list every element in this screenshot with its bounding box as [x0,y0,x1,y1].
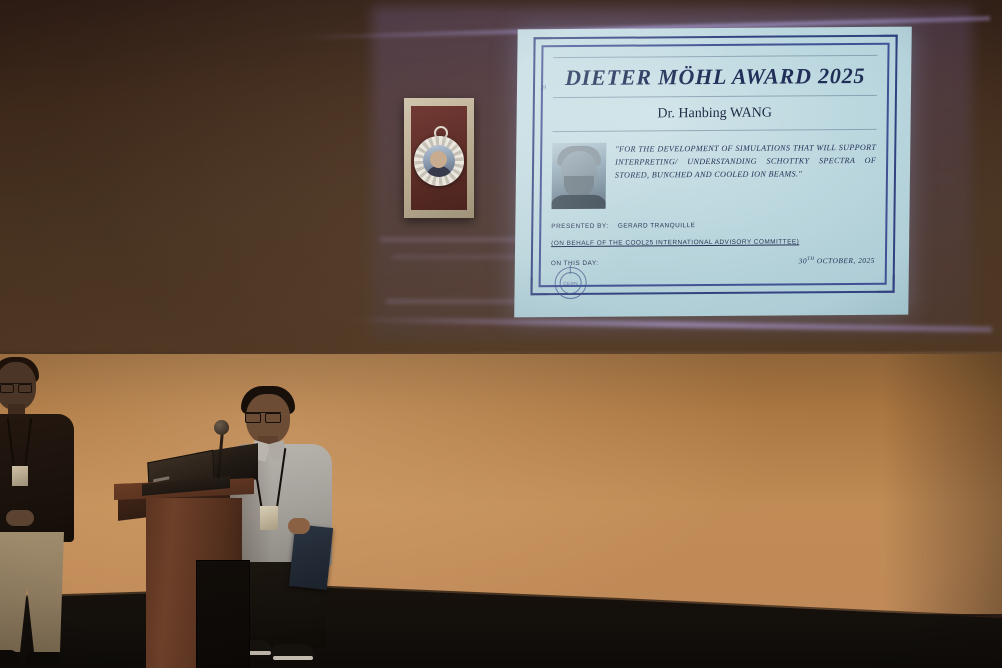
dieter-mohl-portrait [552,143,607,209]
certificate-meta: PRESENTED BY: GERARD TRANQUILLE (ON BEHA… [551,219,876,270]
border-corner-bl [530,277,548,295]
date-day: 30 [799,256,808,265]
attendee-shoe-left [0,650,18,663]
border-corner-tr [879,35,897,53]
ceremony-photo: 39 DIETER MÖHL AWARD 2025 Dr. Hanbing WA… [0,0,1002,668]
cern-seal-icon: CERN [554,267,586,299]
border-corner-br [877,275,895,293]
speaker-shoe-right [272,644,314,660]
projected-certificate-slide: 39 DIETER MÖHL AWARD 2025 Dr. Hanbing WA… [514,27,912,318]
presented-by-name: GERARD TRANQUILLE [618,222,696,230]
person-standing-attendee [0,362,74,668]
rule-below-recipient [552,129,876,132]
certificate-margin-mark: 39 [540,85,546,91]
date-ordinal: TH [807,256,814,261]
lectern-front-panel [196,560,250,668]
certificate-title: DIETER MÖHL AWARD 2025 [553,63,877,91]
attendee-badge [12,466,28,486]
on-behalf-of-text: (ON BEHALF OF THE COOL25 INTERNATIONAL A… [551,238,799,247]
certificate-recipient: Dr. Hanbing WANG [553,105,877,123]
lectern [120,478,248,668]
attendee-shoe-right [26,652,60,665]
speaker-certificate-folder [289,524,333,590]
rule-below-title [553,95,877,98]
medal-portrait [423,145,455,177]
wall-corner-shadow [882,354,1002,614]
certificate-citation: "FOR THE DEVELOPMENT OF SIMULATIONS THAT… [615,141,877,209]
date-rest: OCTOBER, 2025 [814,256,875,265]
date-line: ON THIS DAY: 30TH OCTOBER, 2025 [551,254,875,270]
attendee-trousers [0,532,64,652]
border-corner-tl [533,37,551,55]
award-date: 30TH OCTOBER, 2025 [799,254,875,268]
certificate-content: DIETER MÖHL AWARD 2025 Dr. Hanbing WANG … [551,55,878,277]
portrait-shoulders [552,195,607,209]
on-behalf-of-line: (ON BEHALF OF THE COOL25 INTERNATIONAL A… [551,236,875,250]
framed-medal [404,98,474,218]
seal-label: CERN [555,268,585,298]
medal-disc [414,136,464,186]
presented-by-label: PRESENTED BY: [551,223,608,230]
speaker-hand [288,518,310,534]
presented-by-line: PRESENTED BY: GERARD TRANQUILLE [551,219,875,233]
lectern-body [146,498,242,668]
microphone-head-icon [214,420,229,435]
certificate-body: "FOR THE DEVELOPMENT OF SIMULATIONS THAT… [552,141,877,209]
speaker-badge [260,506,278,530]
medal-mat [411,106,467,210]
attendee-hands [6,510,34,526]
speaker-glasses-icon [245,412,281,421]
attendee-glasses-icon [0,383,32,391]
